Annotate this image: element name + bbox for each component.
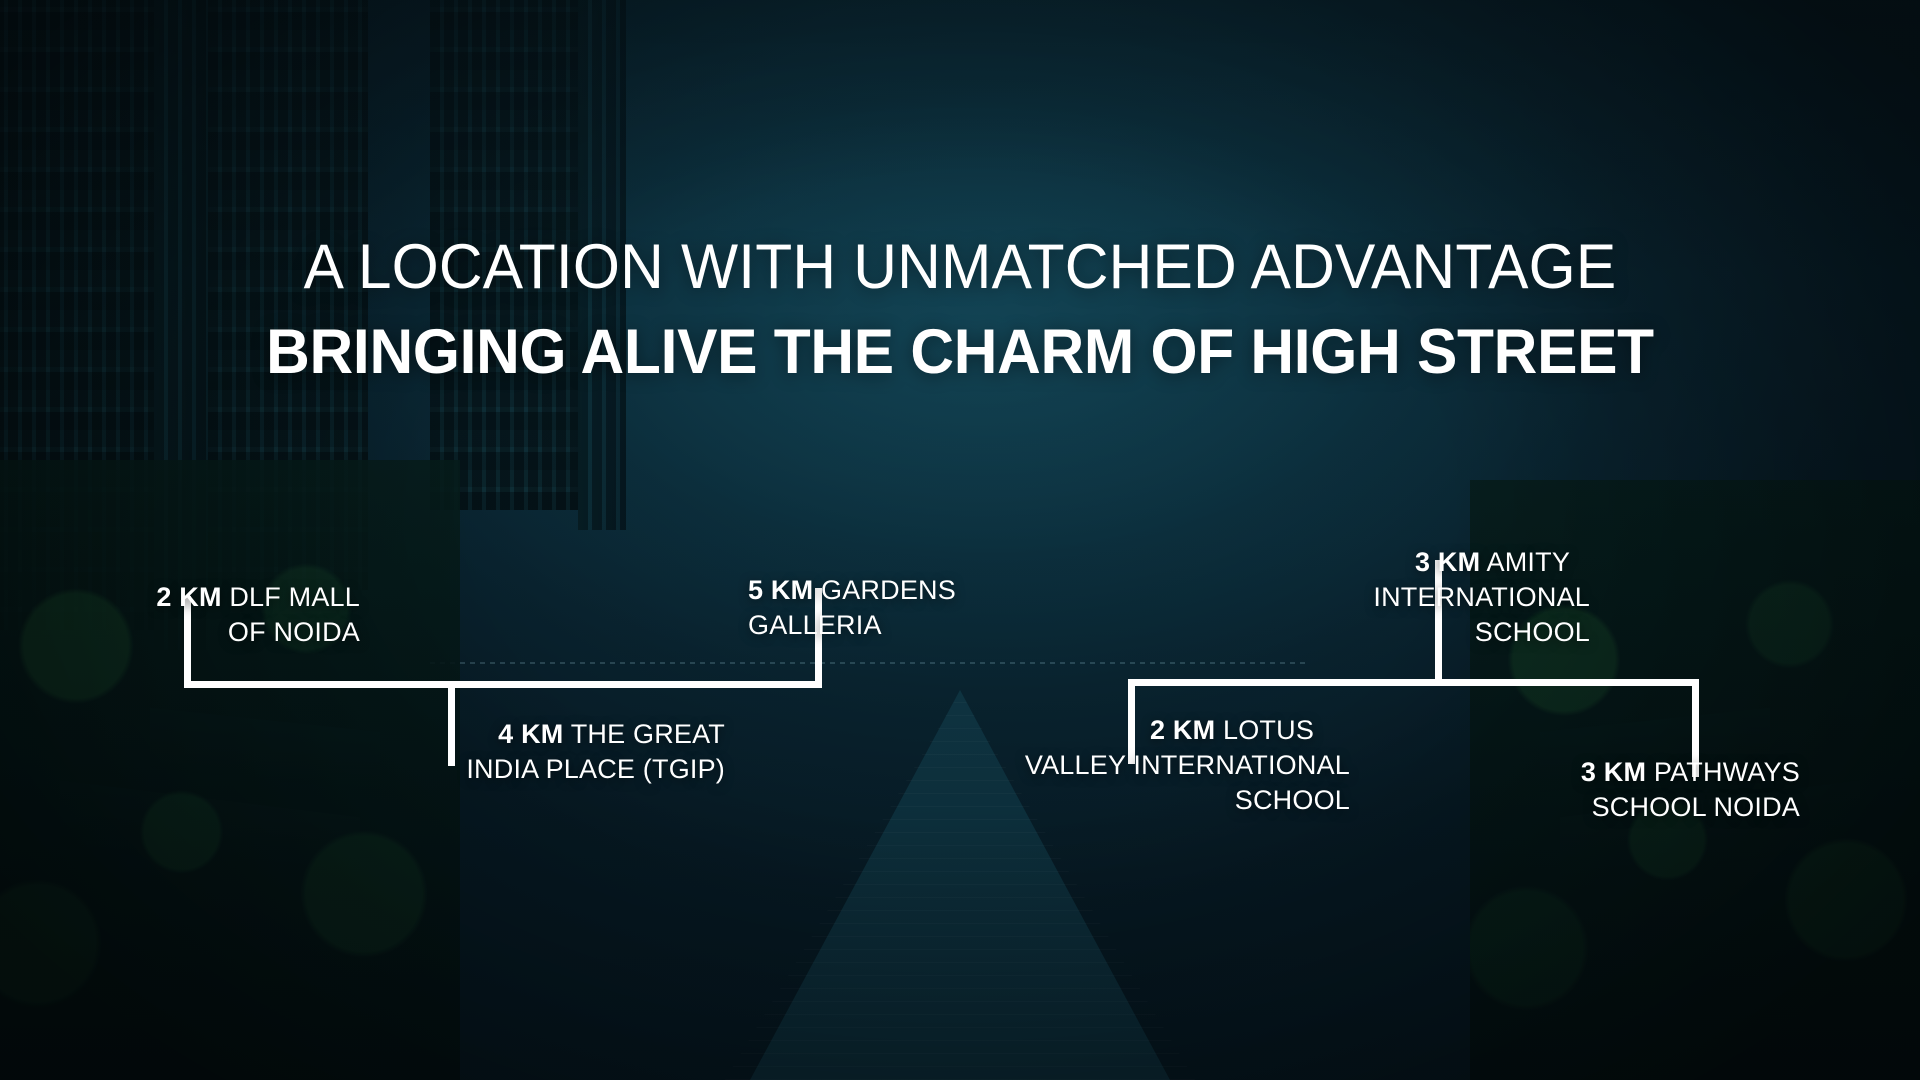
callout-dlf-mall-of-noida[interactable]: 2 KM DLF MALL OF NOIDA bbox=[0, 580, 360, 650]
location-advantage-slide: A LOCATION WITH UNMATCHED ADVANTAGE BRIN… bbox=[0, 0, 1920, 1080]
distance-badge: 2 KM bbox=[156, 582, 221, 612]
distance-badge: 5 KM bbox=[748, 575, 813, 605]
callout-line-1: 2 KM DLF MALL bbox=[0, 580, 360, 615]
callout-line-1: 2 KM LOTUS bbox=[560, 713, 1350, 748]
headline-line-2: BRINGING ALIVE THE CHARM OF HIGH STREET bbox=[38, 321, 1881, 384]
callout-line-2: SCHOOL NOIDA bbox=[1180, 790, 1800, 825]
distance-badge: 3 KM bbox=[1581, 757, 1646, 787]
callout-line-1: 3 KM PATHWAYS bbox=[1180, 755, 1800, 790]
landmark-name: AMITY bbox=[1487, 547, 1571, 577]
landmark-name: LOTUS bbox=[1223, 715, 1314, 745]
callout-amity-international-school[interactable]: 3 KM AMITY INTERNATIONAL SCHOOL bbox=[960, 545, 1590, 650]
headline-line-1: A LOCATION WITH UNMATCHED ADVANTAGE bbox=[38, 236, 1881, 299]
callout-line-3: SCHOOL bbox=[960, 615, 1590, 650]
page-title: A LOCATION WITH UNMATCHED ADVANTAGE BRIN… bbox=[0, 236, 1920, 384]
callout-line-2: INTERNATIONAL bbox=[960, 580, 1590, 615]
vignette-overlay bbox=[0, 0, 1920, 1080]
callout-line-2: OF NOIDA bbox=[0, 615, 360, 650]
callout-pathways-school-noida[interactable]: 3 KM PATHWAYS SCHOOL NOIDA bbox=[1180, 755, 1800, 825]
landmark-name: GARDENS bbox=[821, 575, 956, 605]
distance-badge: 4 KM bbox=[498, 719, 563, 749]
distance-badge: 3 KM bbox=[1415, 547, 1480, 577]
landmark-name: PATHWAYS bbox=[1654, 757, 1800, 787]
distance-badge: 2 KM bbox=[1150, 715, 1215, 745]
callout-line-1: 3 KM AMITY bbox=[960, 545, 1590, 580]
landmark-name: DLF MALL bbox=[229, 582, 360, 612]
